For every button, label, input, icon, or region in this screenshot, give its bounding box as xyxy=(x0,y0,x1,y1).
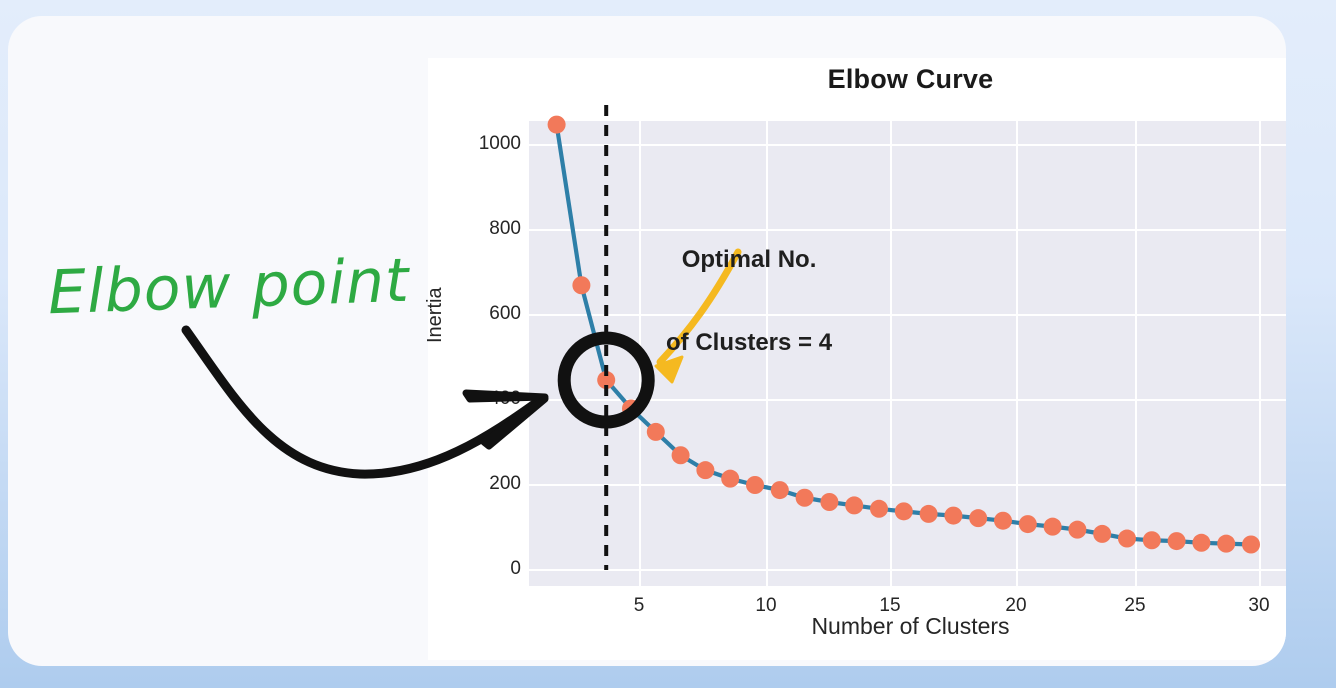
optimal-clusters-line2: of Clusters = 4 xyxy=(666,329,832,357)
elbow-point-handwriting: Elbow point xyxy=(47,246,411,329)
optimal-clusters-line1: Optimal No. xyxy=(666,246,832,274)
content-card: Elbow Curve Inertia Optimal N xyxy=(8,16,1286,666)
page-root: Elbow Curve Inertia Optimal N xyxy=(0,0,1336,688)
chart-figure: Elbow Curve Inertia Optimal N xyxy=(428,58,1286,660)
x-axis-label: Number of Clusters xyxy=(529,613,1286,640)
optimal-clusters-callout: Optimal No. of Clusters = 4 xyxy=(666,191,832,412)
x-tick-labels: 5 10 15 20 25 30 xyxy=(428,58,1286,660)
